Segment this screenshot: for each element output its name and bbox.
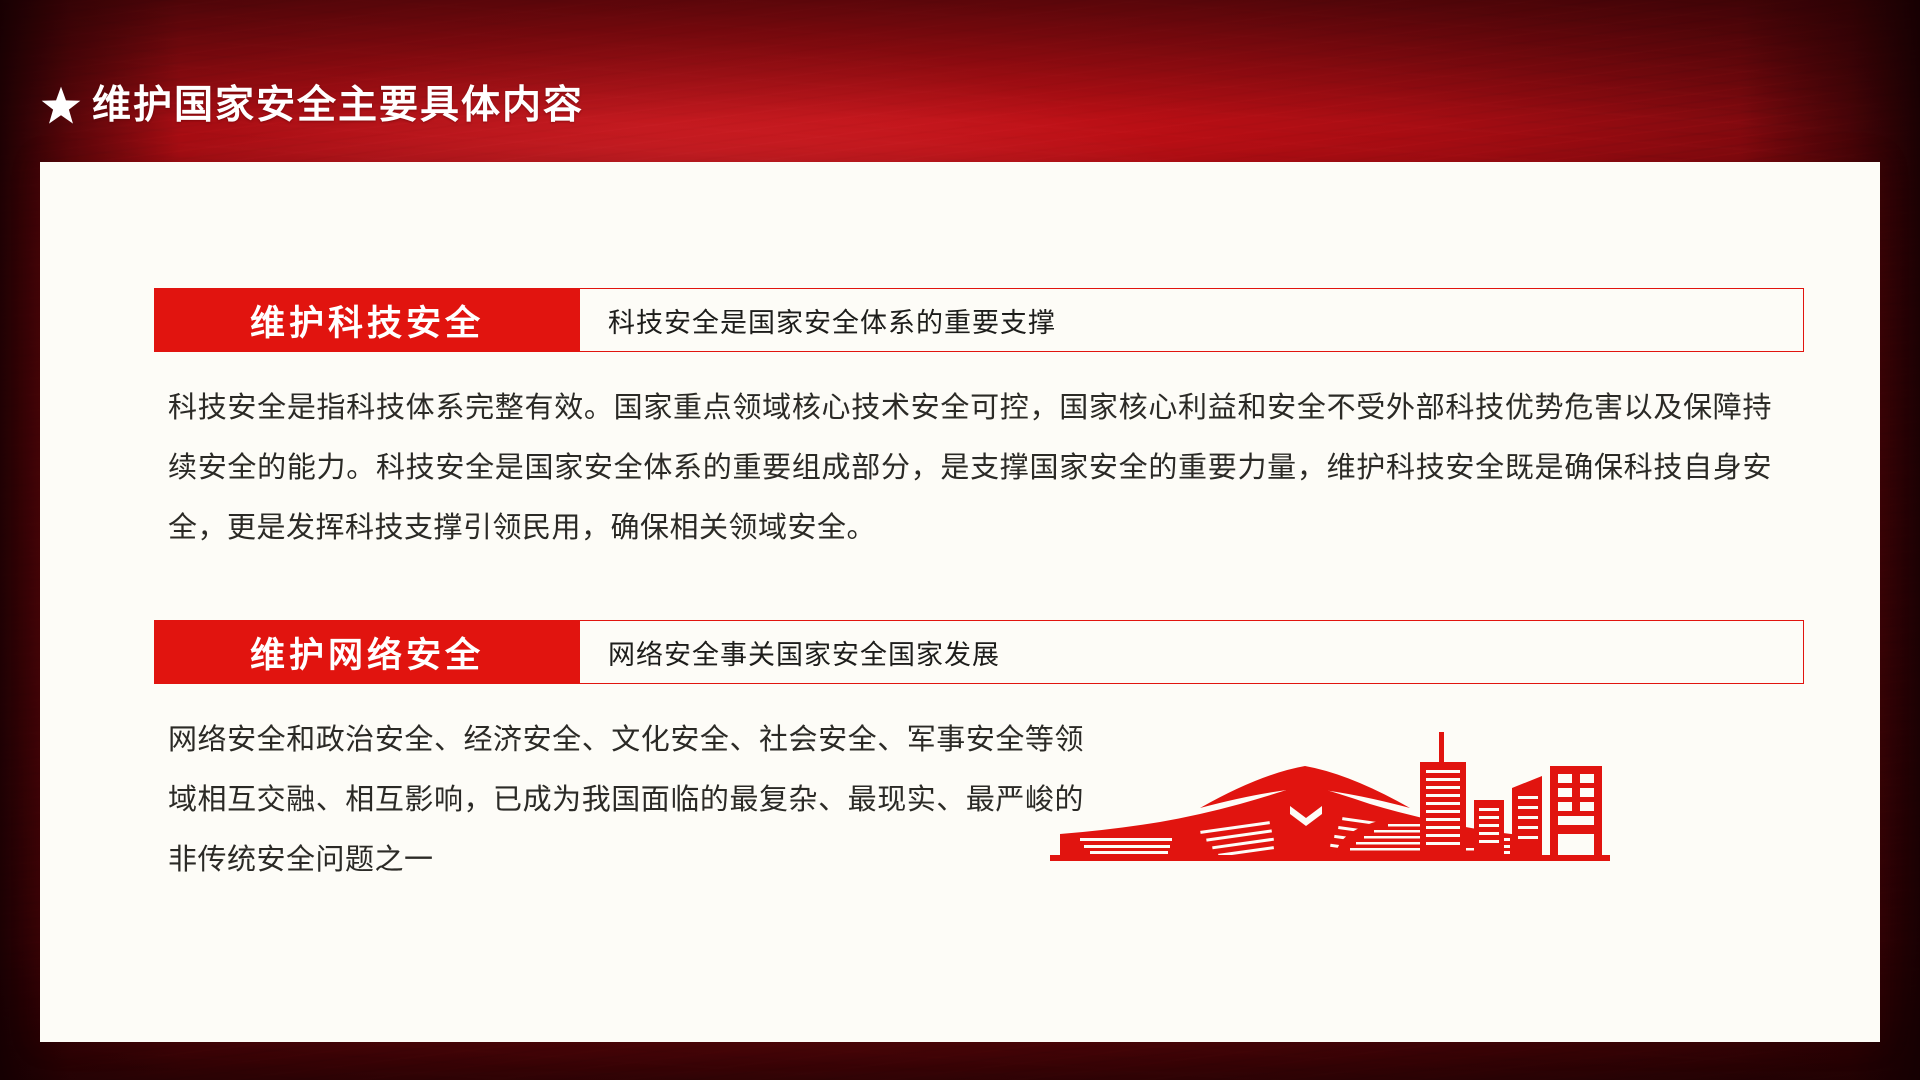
page-title: 维护国家安全主要具体内容 (92, 86, 584, 125)
section-subtitle: 科技安全是国家安全体系的重要支撑 (608, 301, 1056, 340)
section-subtitle-bar: 网络安全事关国家安全国家发展 (580, 620, 1804, 684)
slide-title-bar: 维护国家安全主要具体内容 (40, 78, 584, 132)
section-body-text: 科技安全是指科技体系完整有效。国家重点领域核心技术安全可控，国家核心利益和安全不… (154, 378, 1772, 558)
section-body-text: 网络安全和政治安全、经济安全、文化安全、社会安全、军事安全等领域相互交融、相互影… (154, 710, 1084, 890)
section-subtitle-bar: 科技安全是国家安全体系的重要支撑 (580, 288, 1804, 352)
star-icon (40, 85, 82, 127)
section-subtitle: 网络安全事关国家安全国家发展 (608, 633, 1000, 672)
section-header: 维护网络安全 网络安全事关国家安全国家发展 (154, 620, 1804, 684)
city-skyline-illustration (1050, 722, 1710, 882)
section-tech-security: 维护科技安全 科技安全是国家安全体系的重要支撑 科技安全是指科技体系完整有效。国… (154, 288, 1804, 558)
section-header: 维护科技安全 科技安全是国家安全体系的重要支撑 (154, 288, 1804, 352)
section-tag-label: 维护科技安全 (154, 288, 580, 352)
content-card: 维护科技安全 科技安全是国家安全体系的重要支撑 科技安全是指科技体系完整有效。国… (40, 162, 1880, 1042)
section-tag-label: 维护网络安全 (154, 620, 580, 684)
slide-root: 维护国家安全主要具体内容 维护科技安全 科技安全是国家安全体系的重要支撑 科技安… (0, 0, 1920, 1080)
